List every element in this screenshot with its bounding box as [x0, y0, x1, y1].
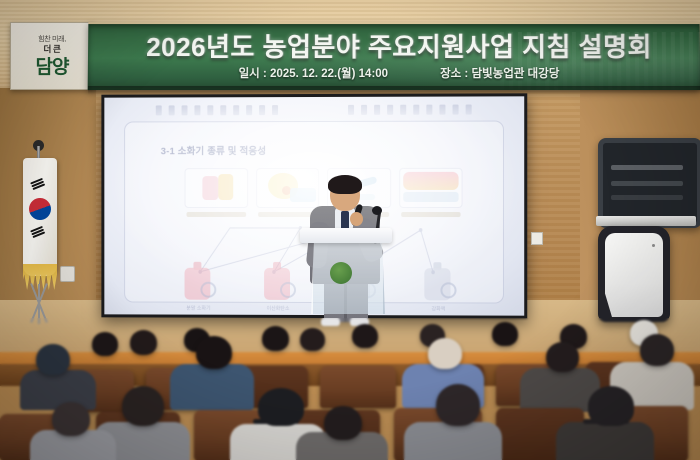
audience-head [52, 402, 90, 436]
banner-title: 2026년도 농업분야 주요지원사업 지침 설명회 [110, 27, 688, 64]
audience-person [556, 422, 654, 460]
monitor-shelf [596, 216, 696, 226]
audience-head [436, 384, 480, 426]
conference-hall-photo: 힘찬 미래, 더 큰 담양 2026년도 농업분야 주요지원사업 지침 설명회 … [0, 0, 700, 460]
audience-head [92, 332, 118, 356]
logo-slogan: 힘찬 미래, 더 큰 [38, 35, 66, 56]
audience-cap [588, 386, 634, 426]
audience-head [122, 386, 164, 426]
damyang-logo-panel: 힘찬 미래, 더 큰 담양 [10, 22, 94, 90]
banner-date: 일시 : 2025. 12. 22.(월) 14:00 [239, 65, 389, 81]
audience-person [20, 370, 96, 410]
dot-group-right [348, 105, 472, 117]
extinguisher-liquid-label: 강화액 [408, 305, 468, 312]
extinguisher-liquid: 강화액 [408, 254, 468, 312]
audience-seat [320, 366, 396, 408]
logo-slogan-line2: 더 큰 [38, 44, 66, 55]
picto-fire-class-k [395, 166, 467, 218]
logo-name: 담양 [36, 58, 69, 77]
audience-head [130, 330, 157, 355]
banner-place: 장소 : 담빛농업관 대강당 [440, 65, 559, 81]
wall-sign [531, 232, 543, 245]
audience-head [324, 406, 362, 440]
microphone-head-icon [372, 206, 382, 215]
speaker-hair [328, 175, 362, 194]
audience-section [0, 318, 700, 460]
slide-decor-dots [104, 104, 524, 117]
taegukgi-flag-icon [23, 158, 57, 276]
air-purifier-icon [598, 226, 670, 322]
extinguisher-powder: 분말 소화기 [169, 254, 229, 312]
event-banner: 2026년도 농업분야 주요지원사업 지침 설명회 일시 : 2025. 12.… [88, 22, 700, 90]
picto-fire-class-a [181, 166, 252, 218]
audience-head [492, 322, 518, 346]
audience-person [404, 422, 502, 460]
logo-slogan-line1: 힘찬 미래, [38, 36, 66, 43]
audience-head [546, 342, 579, 372]
audience-head [640, 334, 674, 366]
national-flag-stand [6, 140, 76, 325]
banner-subtitle: 일시 : 2025. 12. 22.(월) 14:00 장소 : 담빛농업관 대… [110, 65, 689, 81]
audience-person [170, 364, 254, 410]
audience-head [352, 324, 378, 348]
extinguisher-powder-label: 분말 소화기 [169, 305, 229, 312]
podium-emblem [330, 262, 352, 284]
audience-cap [36, 344, 70, 375]
dot-group-left [156, 105, 278, 117]
wall-monitor-icon [598, 138, 700, 228]
audience-head [262, 326, 289, 351]
slide-title: 3-1 소화기 종류 및 적응성 [161, 143, 267, 157]
audience-head [196, 336, 232, 369]
light-switch-icon [60, 266, 75, 282]
audience-head [300, 328, 325, 351]
audience-cap [258, 388, 304, 426]
audience-head [428, 338, 462, 369]
podium [300, 228, 392, 314]
